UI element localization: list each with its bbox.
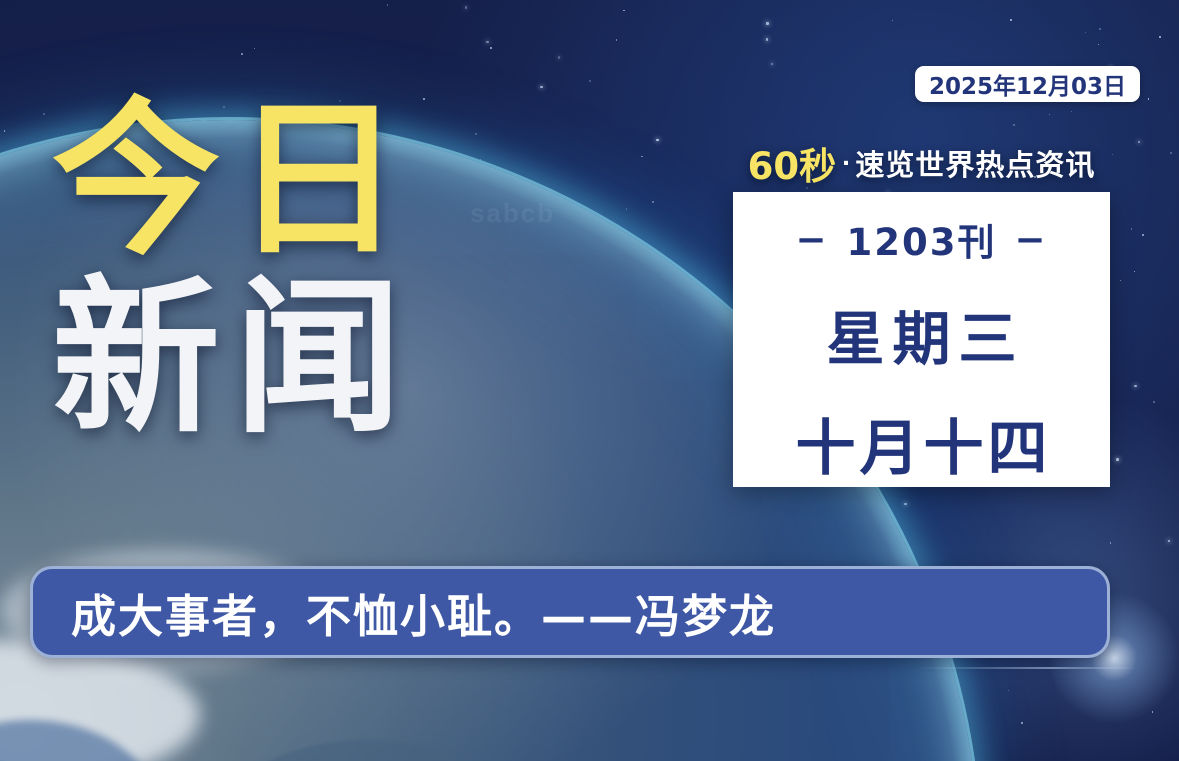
poster-canvas: sabcb 今日 新闻 2025年12月03日 60秒 · 速览世界热点资讯 −…: [0, 0, 1179, 761]
quote-text: 成大事者，不恤小耻。——冯梦龙: [33, 580, 776, 645]
main-title: 今日 新闻: [52, 96, 416, 442]
tagline-text: 速览世界热点资讯: [855, 142, 1095, 184]
tagline: 60秒 · 速览世界热点资讯: [733, 140, 1110, 186]
weekday-label: 星期三: [818, 292, 1024, 376]
date-badge: 2025年12月03日: [915, 66, 1140, 102]
title-line-2: 新闻: [52, 274, 416, 442]
issue-number-row: − 1203刊 −: [795, 212, 1047, 266]
title-line-1: 今日: [52, 96, 416, 264]
issue-number: 1203刊: [847, 212, 997, 266]
issue-dash-left: −: [795, 218, 828, 261]
tagline-highlight: 60秒: [748, 136, 837, 190]
lunar-date-label: 十月十四: [792, 400, 1052, 487]
quote-bar: 成大事者，不恤小耻。——冯梦龙: [30, 566, 1110, 658]
tagline-separator: ·: [842, 147, 851, 179]
issue-dash-right: −: [1014, 218, 1047, 261]
info-card: − 1203刊 − 星期三 十月十四: [733, 192, 1110, 487]
